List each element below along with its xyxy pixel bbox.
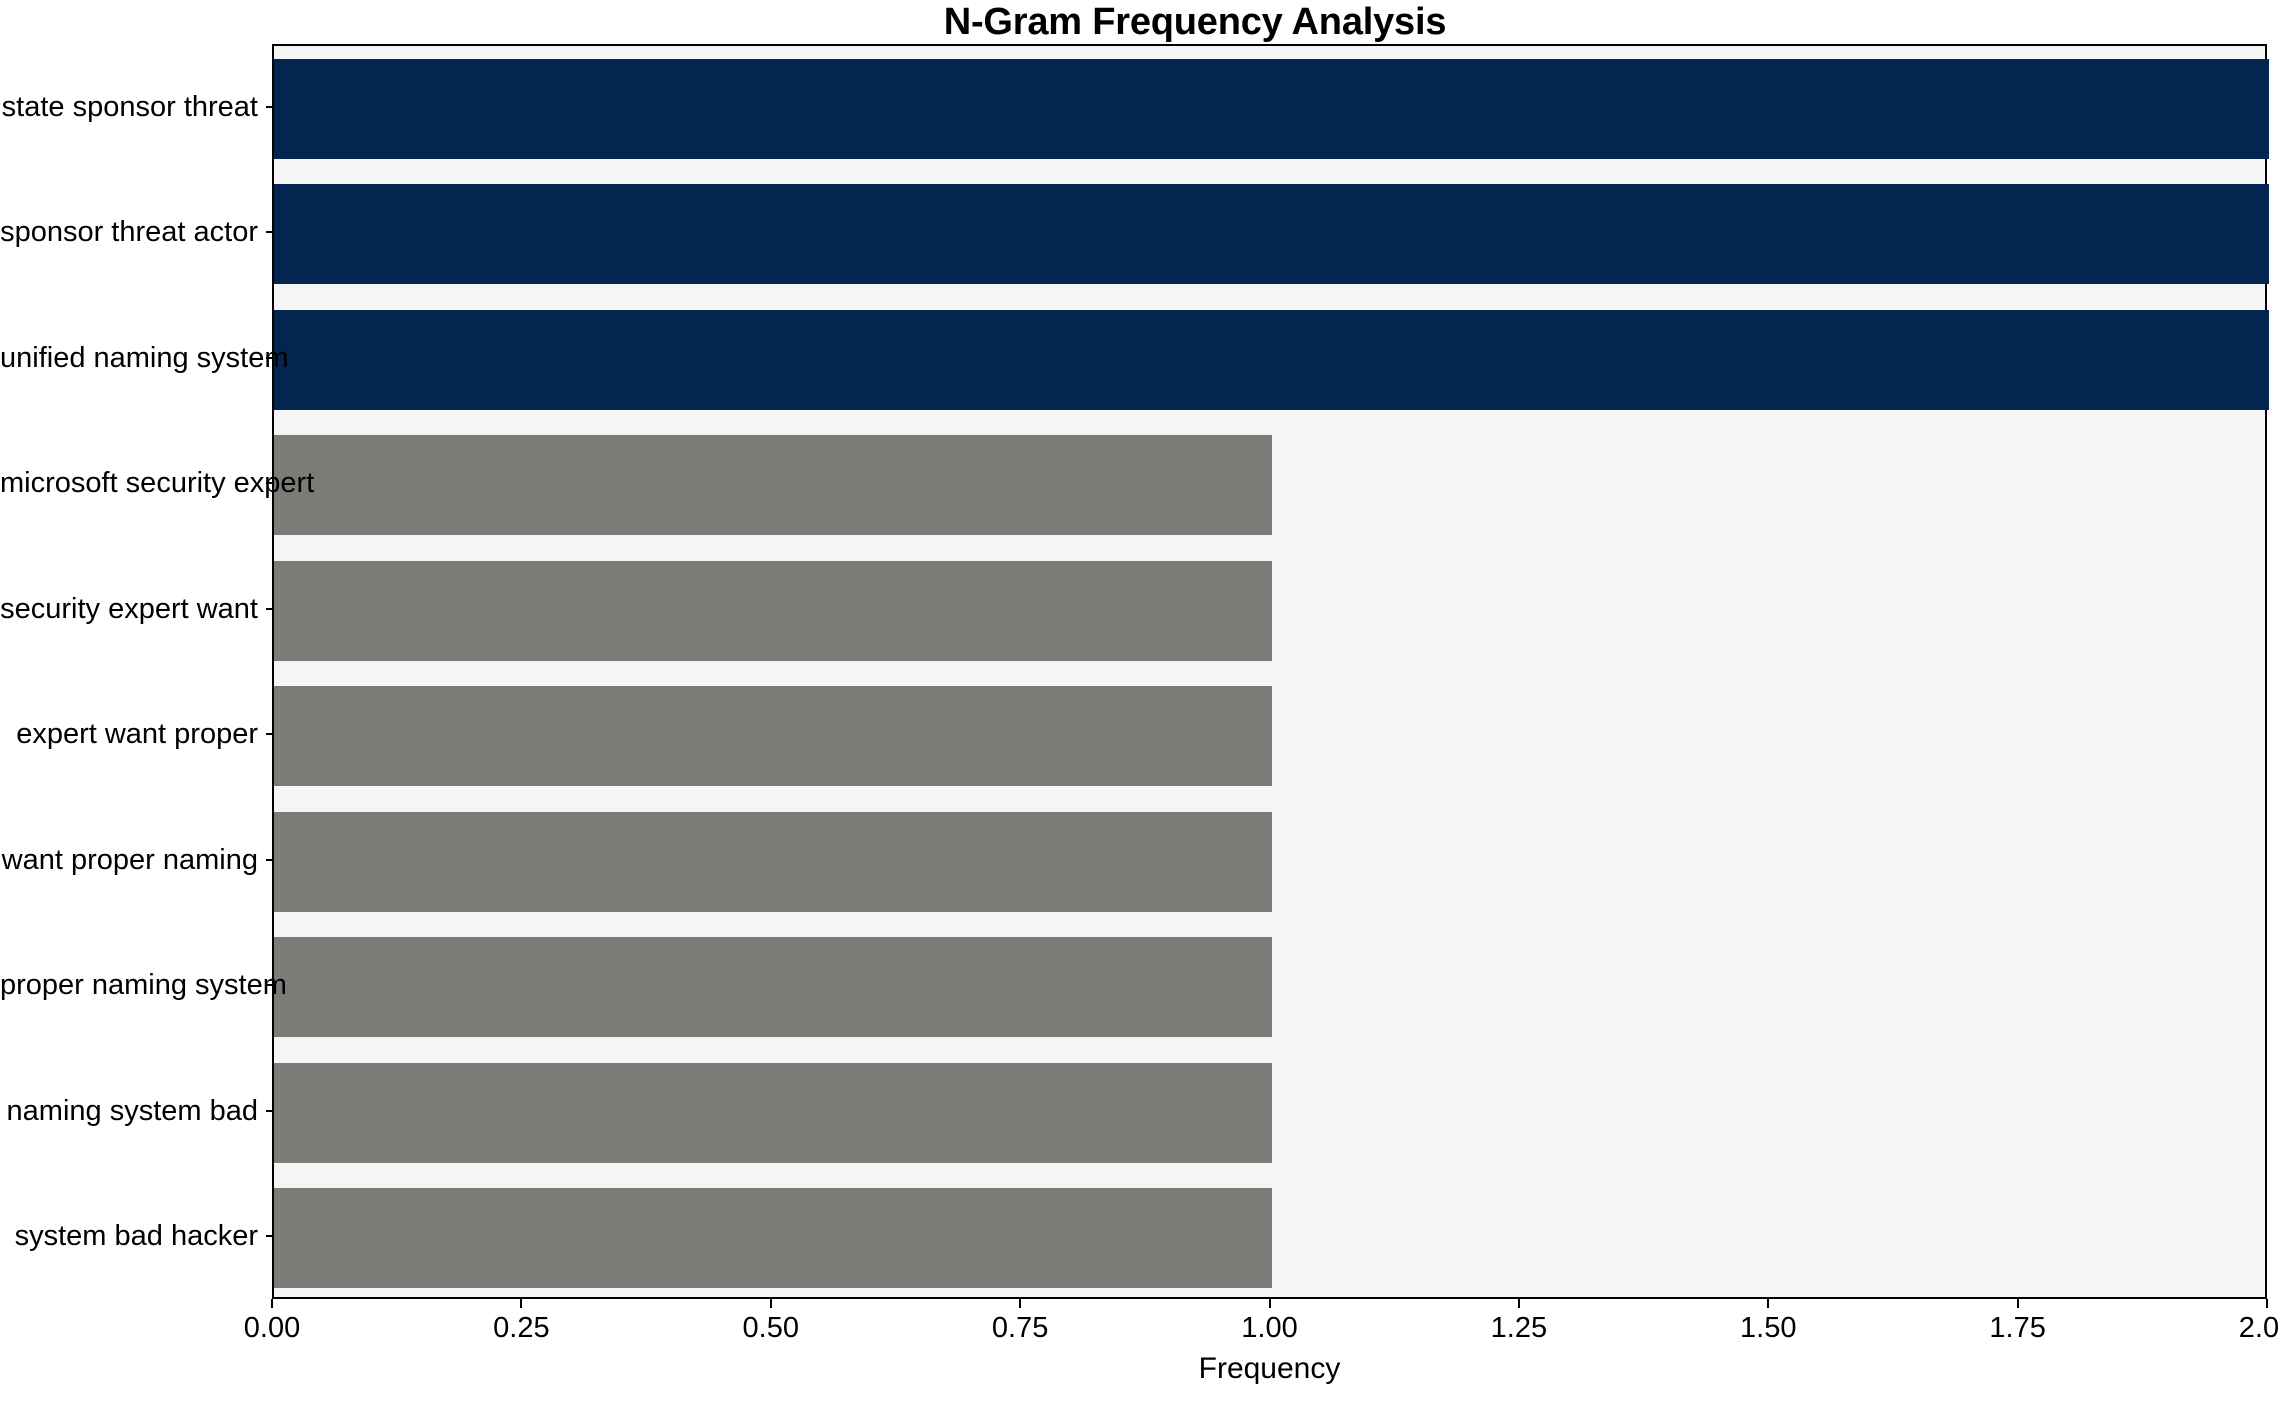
- bar-row: [274, 184, 2265, 284]
- y-axis-tick-mark: [266, 984, 274, 986]
- y-axis-tick-mark: [266, 106, 274, 108]
- chart-title-text: N-Gram Frequency Analysis: [110, 2, 2280, 42]
- x-axis-tick-label: 0.75: [992, 1312, 1048, 1344]
- bar-row: [274, 686, 2265, 786]
- bar[interactable]: [274, 686, 1272, 786]
- y-axis-tick-mark: [266, 859, 274, 861]
- x-axis-tick-label: 2.00: [2239, 1312, 2280, 1344]
- bar[interactable]: [274, 812, 1272, 912]
- x-axis-tick-label: 1.50: [1740, 1312, 1796, 1344]
- x-axis-tick-mark: [2017, 1299, 2019, 1308]
- x-axis-title: Frequency: [272, 1352, 2267, 1386]
- bar[interactable]: [274, 937, 1272, 1037]
- x-axis-tick-mark: [770, 1299, 772, 1308]
- y-axis-tick-mark: [266, 733, 274, 735]
- y-axis-tick-label: unified naming system: [0, 343, 258, 373]
- x-axis-tick-mark: [520, 1299, 522, 1308]
- x-axis-tick-label: 1.00: [1241, 1312, 1297, 1344]
- bar-row: [274, 435, 2265, 535]
- x-axis-tick-mark: [1269, 1299, 1271, 1308]
- bar[interactable]: [274, 59, 2269, 159]
- bar[interactable]: [274, 184, 2269, 284]
- y-axis-tick-mark: [266, 1110, 274, 1112]
- x-axis-tick-mark: [1019, 1299, 1021, 1308]
- y-axis-tick-label: state sponsor threat: [0, 92, 258, 122]
- bar[interactable]: [274, 1188, 1272, 1288]
- x-axis-tick-label: 0.00: [244, 1312, 300, 1344]
- x-axis-tick-mark: [271, 1299, 273, 1308]
- y-axis-tick-labels: state sponsor threatsponsor threat actor…: [0, 44, 258, 1299]
- bar-row: [274, 937, 2265, 1037]
- bar-row: [274, 1188, 2265, 1288]
- ngram-frequency-chart-figure: N-Gram Frequency Analysis state sponsor …: [0, 0, 2280, 1414]
- x-axis-tick-label: 1.75: [1989, 1312, 2045, 1344]
- bar-row: [274, 59, 2265, 159]
- x-axis-tick-mark: [1767, 1299, 1769, 1308]
- y-axis-tick-label: naming system bad: [0, 1096, 258, 1126]
- y-axis-tick-label: want proper naming: [0, 845, 258, 875]
- bar[interactable]: [274, 561, 1272, 661]
- x-axis-tick-labels: 0.000.250.500.751.001.251.501.752.00: [272, 1299, 2267, 1359]
- y-axis-tick-label: system bad hacker: [0, 1221, 258, 1251]
- y-axis-tick-label: expert want proper: [0, 719, 258, 749]
- x-axis-tick-mark: [1518, 1299, 1520, 1308]
- bar-row: [274, 1063, 2265, 1163]
- y-axis-tick-label: proper naming system: [0, 970, 258, 1000]
- y-axis-tick-mark: [266, 482, 274, 484]
- y-axis-tick-label: sponsor threat actor: [0, 217, 258, 247]
- y-axis-tick-mark: [266, 231, 274, 233]
- bar[interactable]: [274, 310, 2269, 410]
- y-axis-tick-label: security expert want: [0, 594, 258, 624]
- x-axis-tick-label: 1.25: [1491, 1312, 1547, 1344]
- x-axis-tick-label: 0.50: [743, 1312, 799, 1344]
- bar-row: [274, 812, 2265, 912]
- y-axis-tick-mark: [266, 608, 274, 610]
- plot-area: [272, 44, 2267, 1299]
- chart-title: N-Gram Frequency Analysis: [0, 2, 2280, 42]
- x-axis-tick-mark: [2266, 1299, 2268, 1308]
- bars-layer: [274, 46, 2265, 1297]
- y-axis-tick-mark: [266, 357, 274, 359]
- x-axis-tick-label: 0.25: [493, 1312, 549, 1344]
- y-axis-tick-mark: [266, 1235, 274, 1237]
- bar[interactable]: [274, 1063, 1272, 1163]
- bar-row: [274, 561, 2265, 661]
- bar-row: [274, 310, 2265, 410]
- bar[interactable]: [274, 435, 1272, 535]
- y-axis-tick-label: microsoft security expert: [0, 468, 258, 498]
